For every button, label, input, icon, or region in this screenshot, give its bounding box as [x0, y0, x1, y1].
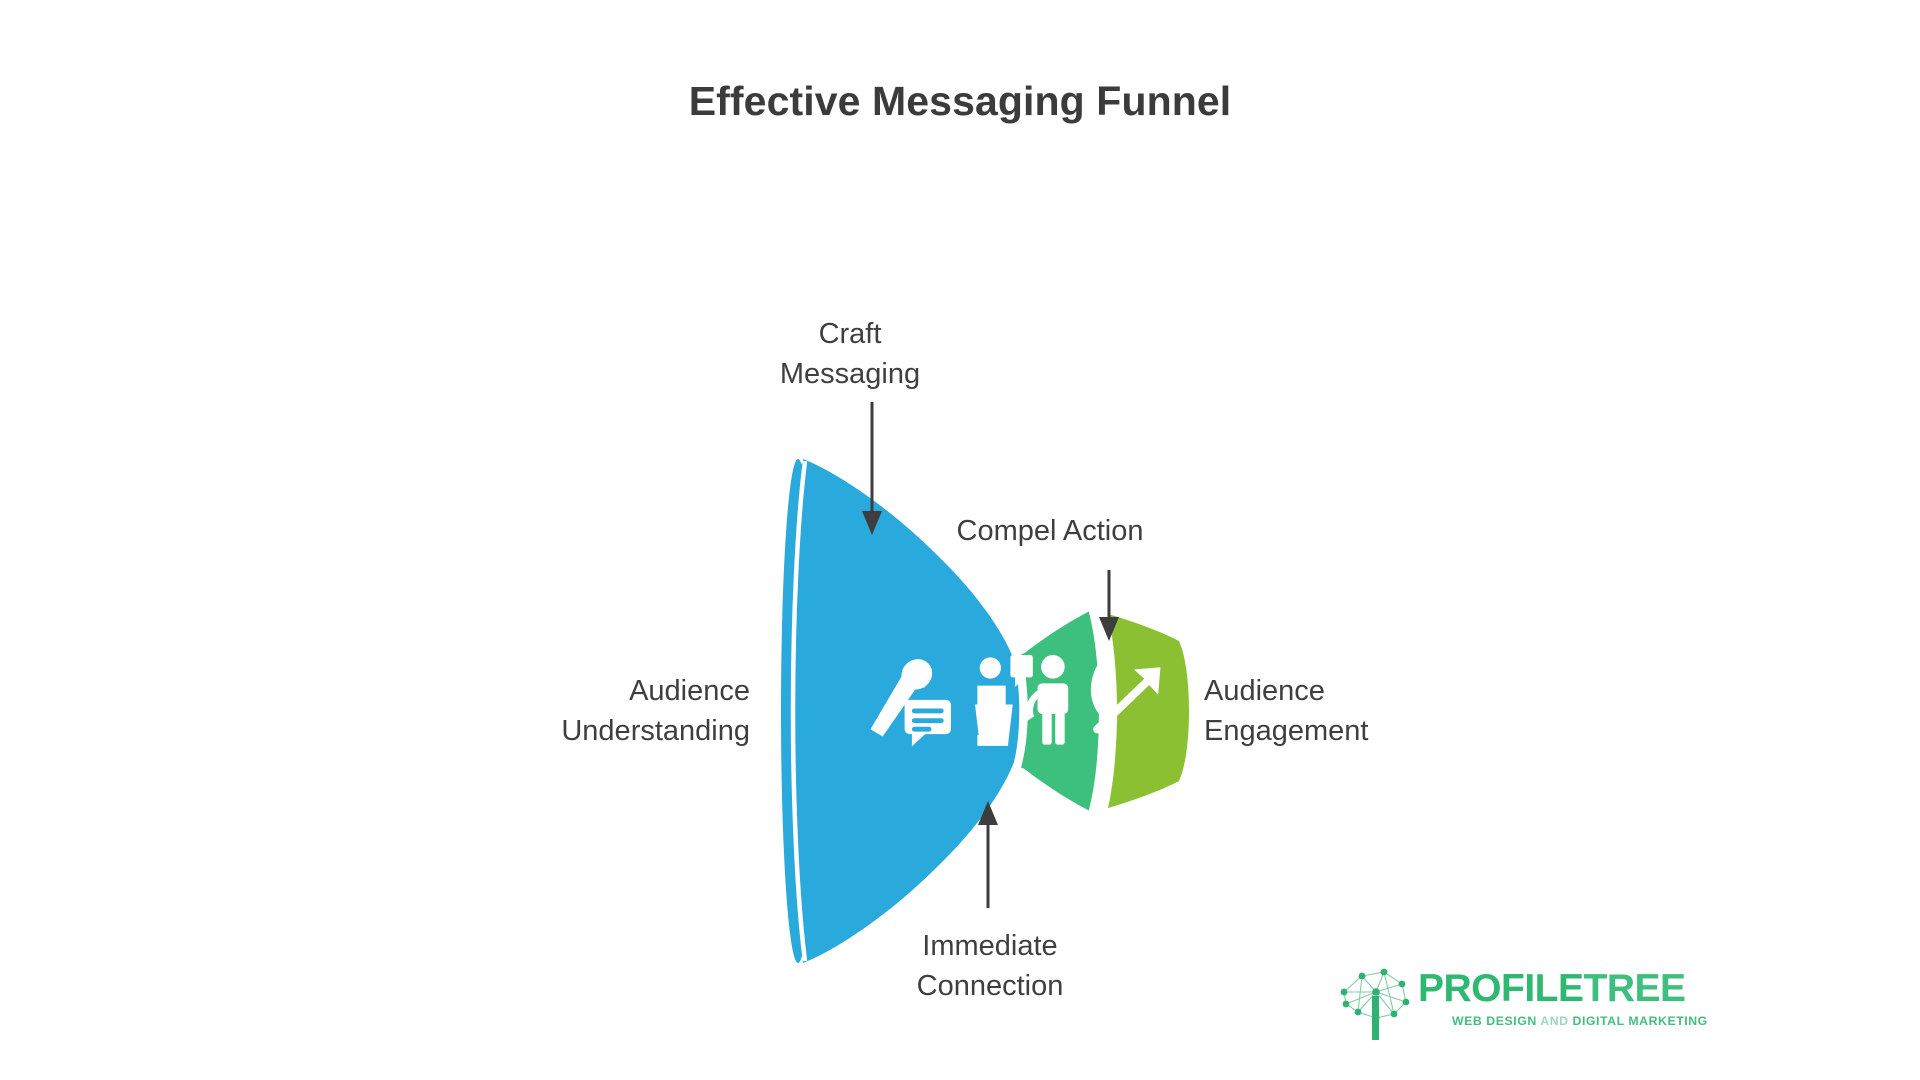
network-tree-icon: [1332, 962, 1414, 1042]
end-label-audience-engagement: Audience Engagement: [1204, 671, 1504, 751]
logo-tagline: WEB DESIGN AND DIGITAL MARKETING: [1452, 1014, 1708, 1028]
arrow-compel-action: [1099, 570, 1119, 641]
end-label-audience-understanding: Audience Understanding: [460, 671, 750, 751]
logo-tagline-and: AND: [1540, 1014, 1568, 1028]
logo-word-profile: PROFILE: [1418, 967, 1584, 1010]
callout-label-immediate-connection: Immediate Connection: [830, 926, 1150, 1006]
logo-tagline-part1: WEB DESIGN: [1452, 1014, 1540, 1028]
logo-tagline-part2: DIGITAL MARKETING: [1569, 1014, 1708, 1028]
callout-label-compel-action: Compel Action: [880, 511, 1220, 551]
arrow-immediate-connection: [978, 801, 998, 908]
callout-label-craft-messaging: Craft Messaging: [700, 314, 1000, 394]
diagram-canvas: Effective Messaging Funnel: [0, 0, 1920, 1080]
logo-wordmark: PROFILETREE: [1418, 968, 1686, 1010]
profiletree-logo[interactable]: PROFILETREE WEB DESIGN AND DIGITAL MARKE…: [1332, 962, 1622, 1048]
logo-word-tree: TREE: [1584, 967, 1686, 1010]
arrow-craft-messaging: [862, 402, 882, 535]
